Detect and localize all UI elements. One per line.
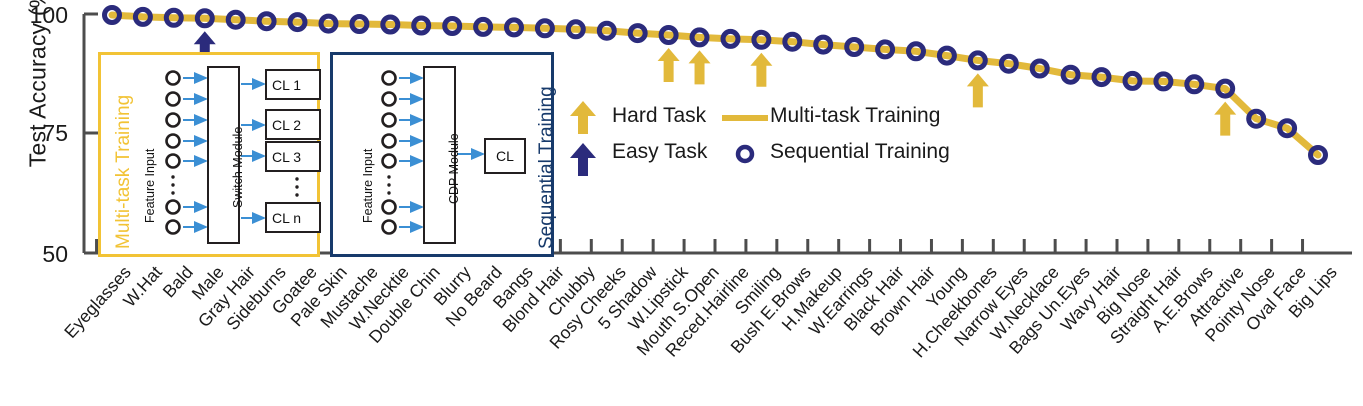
input-dots [387, 175, 390, 194]
feature-input-nodes [167, 72, 180, 234]
cl-box-2: CL 2 [265, 109, 321, 140]
inset-sequential-training: Sequential Training Feature Input [330, 52, 554, 257]
easy-task-arrow-icon [570, 143, 596, 176]
input-arrows [183, 78, 206, 227]
legend-easy-task-label: Easy Task [612, 140, 707, 164]
input-dots [171, 175, 174, 194]
hard-task-arrow [689, 50, 711, 84]
hard-task-arrow [1214, 102, 1236, 136]
legend-sequential-label: Sequential Training [770, 140, 950, 164]
cl-box-n: CL n [265, 202, 321, 233]
cdp-module-box: CDP Module [423, 66, 456, 244]
chart-root: Test Accuracy (%) 100 75 50 EyeglassesW.… [0, 0, 1363, 406]
hard-task-arrow [658, 48, 680, 82]
feature-input-nodes [383, 72, 396, 234]
legend-multitask-label: Multi-task Training [770, 104, 940, 128]
legend-hard-task-label: Hard Task [612, 104, 706, 128]
cl-box-1: CL 1 [265, 69, 321, 100]
hard-task-arrow-icon [570, 101, 596, 134]
sequential-marker-icon [738, 147, 752, 161]
cl-box: CL [484, 138, 526, 174]
cdp-module-label: CDP Module [447, 133, 461, 204]
inset-multitask-training: Multi-task Training Feature Input [98, 52, 320, 257]
output-dots [295, 177, 298, 196]
input-arrows [399, 78, 422, 227]
switch-module-label: Switch Module [231, 127, 245, 208]
hard-task-arrow [750, 53, 772, 87]
switch-module-box: Switch Module [207, 66, 240, 244]
cl-box-3: CL 3 [265, 141, 321, 172]
hard-task-arrow [967, 73, 989, 107]
